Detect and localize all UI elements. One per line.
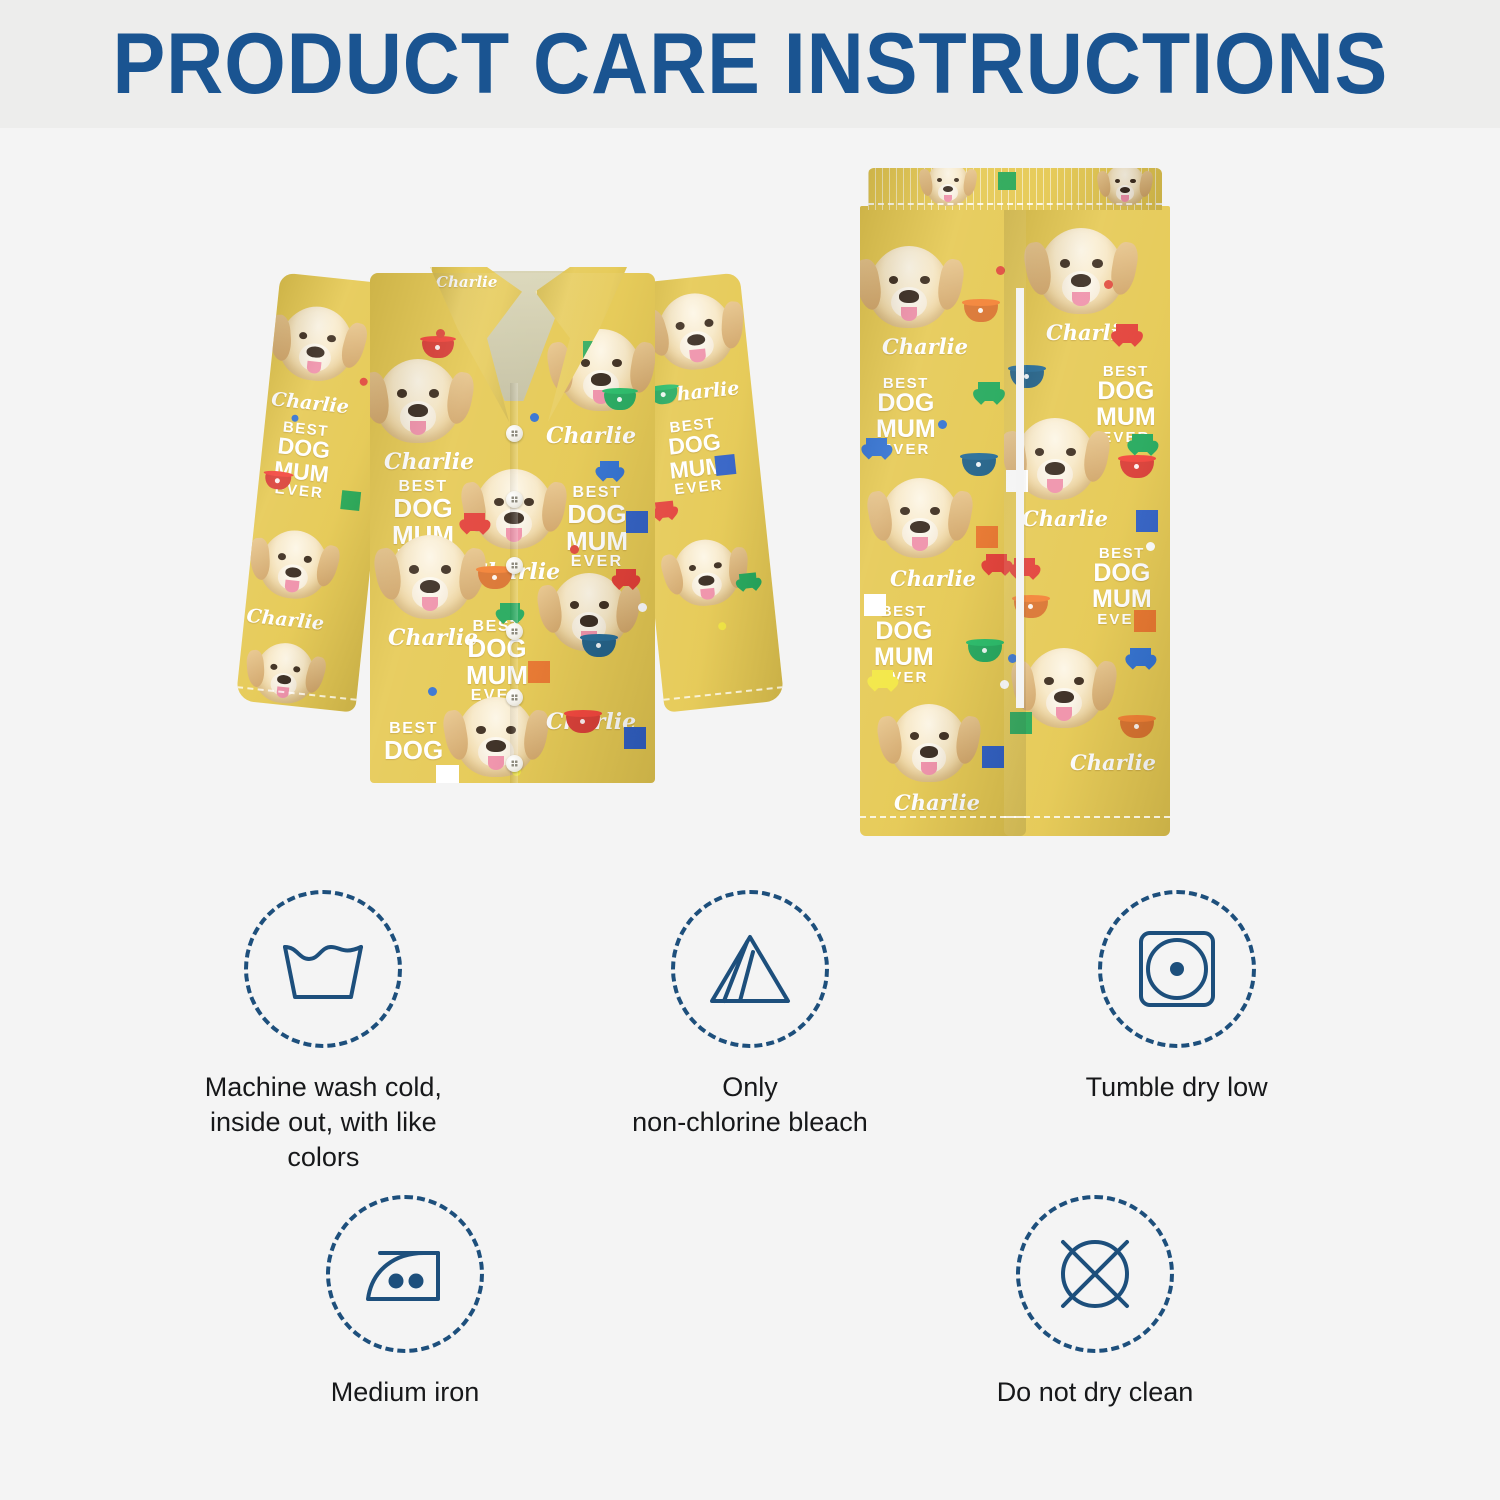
shirt-button[interactable] (506, 491, 523, 508)
care-icon-circle (244, 890, 402, 1048)
pet-name-print: Charlie (882, 334, 968, 359)
waistband-seam (868, 203, 1162, 205)
paw-print-motif (982, 746, 1004, 768)
dot-motif (436, 329, 445, 338)
dog-face-motif (669, 536, 742, 609)
care-instructions-grid: Machine wash cold, inside out, with like… (0, 890, 1500, 1500)
heart-motif (600, 461, 619, 478)
sleeve-cuff (663, 686, 783, 708)
dog-face-motif (880, 478, 960, 558)
heart-motif (464, 513, 485, 531)
heart-motif (1116, 324, 1138, 343)
paw-print-motif (714, 454, 736, 476)
header-band: PRODUCT CARE INSTRUCTIONS (0, 0, 1500, 128)
care-icon-circle (671, 890, 829, 1048)
paw-print-motif (340, 490, 361, 511)
care-item-tumble-dry-low: Tumble dry low (1027, 890, 1327, 1175)
pants-left-leg: Charlie BEST DOG MUM EVER Charlie BEST D… (860, 206, 1026, 836)
heart-motif (986, 554, 1007, 572)
page-title: PRODUCT CARE INSTRUCTIONS (112, 21, 1388, 107)
care-icon-circle (326, 1195, 484, 1353)
dog-bowl-motif (422, 339, 454, 358)
pet-name-print: Charlie (270, 388, 350, 418)
dot-motif (359, 377, 368, 386)
pet-name-print: Charlie (890, 566, 976, 591)
dog-bowl-motif (582, 637, 616, 657)
tumble-dry-icon (1136, 928, 1218, 1010)
dot-motif (718, 622, 727, 631)
dog-face-motif (926, 168, 970, 206)
dog-bowl-motif (1120, 458, 1154, 478)
pet-name-print: Charlie (384, 449, 474, 475)
wash-basin-icon (277, 929, 369, 1009)
heart-motif (616, 569, 636, 586)
paw-print-motif (436, 765, 459, 783)
care-item-do-not-dry-clean: Do not dry clean (945, 1195, 1245, 1410)
paw-print-motif (1010, 712, 1032, 734)
dot-motif (638, 603, 647, 612)
dog-face-motif (276, 303, 357, 384)
dog-face-motif (1024, 648, 1104, 728)
pants-crotch-gap (1016, 288, 1024, 708)
pet-name-print: Charlie (894, 790, 980, 815)
care-label: Do not dry clean (997, 1375, 1194, 1410)
pant-hem (860, 816, 1026, 818)
pet-name-print: Charlie (436, 273, 497, 291)
dog-face-motif (653, 290, 737, 374)
dot-motif (1104, 280, 1113, 289)
paw-print-motif (1136, 510, 1158, 532)
dog-face-motif (868, 246, 950, 328)
pet-name-print: Charlie (388, 625, 478, 651)
dog-face-motif (456, 697, 536, 777)
dog-face-motif (1104, 168, 1146, 206)
heart-motif (978, 382, 1000, 401)
product-image: Charlie BEST DOG MUM EVER Charlie (0, 128, 1500, 888)
dot-motif (1000, 680, 1009, 689)
dot-motif (996, 266, 1005, 275)
pants-right-leg: Charlie BEST DOG MUM EVER Charlie BEST D… (1004, 206, 1170, 836)
pet-name-print: Charlie (245, 605, 325, 635)
dog-bowl-motif (968, 642, 1002, 662)
heart-motif (655, 501, 675, 519)
dot-motif (938, 420, 947, 429)
care-label: Only non-chlorine bleach (632, 1070, 868, 1140)
bleach-triangle-icon (706, 929, 794, 1009)
dot-motif (1146, 542, 1155, 551)
iron-icon (358, 1241, 452, 1307)
heart-motif (872, 670, 893, 688)
dog-bowl-motif (1120, 718, 1154, 738)
pajama-shirt: Charlie BEST DOG MUM EVER Charlie (270, 233, 750, 783)
shirt-button[interactable] (506, 557, 523, 574)
heart-motif (1132, 434, 1153, 452)
dog-face-motif (376, 359, 460, 443)
heart-motif (1130, 648, 1151, 666)
no-dry-clean-icon (1049, 1228, 1141, 1320)
dog-face-motif (388, 535, 472, 619)
shirt-button-placket (510, 383, 518, 783)
dog-face-motif (890, 704, 968, 782)
dog-bowl-motif (478, 569, 512, 589)
pajama-pants: Charlie BEST DOG MUM EVER Charlie BEST D… (830, 168, 1200, 848)
care-icon-circle (1016, 1195, 1174, 1353)
shirt-button[interactable] (506, 689, 523, 706)
pants-waistband (868, 168, 1162, 210)
dot-motif (428, 687, 437, 696)
slogan-badge: BEST DOG (384, 721, 443, 764)
paw-print-motif (864, 594, 886, 616)
pant-hem (1004, 816, 1170, 818)
care-item-machine-wash-cold: Machine wash cold, inside out, with like… (173, 890, 473, 1175)
heart-motif (739, 572, 757, 589)
paw-print-motif (626, 511, 648, 533)
dog-bowl-motif (964, 302, 998, 322)
slogan-badge: BEST DOG MUM EVER (566, 485, 628, 571)
care-icon-circle (1098, 890, 1256, 1048)
care-label: Machine wash cold, inside out, with like… (173, 1070, 473, 1175)
dot-motif (570, 545, 579, 554)
care-item-non-chlorine-bleach: Only non-chlorine bleach (600, 890, 900, 1175)
dog-bowl-motif (604, 391, 636, 410)
dog-face-motif (257, 527, 332, 602)
paw-print-motif (998, 172, 1016, 190)
paw-print-motif (1134, 610, 1156, 632)
dog-face-motif (1038, 228, 1124, 314)
paw-print-motif (528, 661, 550, 683)
dog-bowl-motif (962, 456, 996, 476)
pet-name-print: Charlie (1070, 750, 1156, 775)
care-label: Medium iron (331, 1375, 480, 1410)
care-item-medium-iron: Medium iron (255, 1195, 555, 1410)
care-label: Tumble dry low (1086, 1070, 1268, 1105)
pet-name-print: Charlie (1022, 506, 1108, 531)
dot-motif (530, 413, 539, 422)
shirt-button[interactable] (506, 623, 523, 640)
shirt-button[interactable] (506, 755, 523, 772)
pet-name-print: Charlie (546, 423, 636, 449)
paw-print-motif (976, 526, 998, 548)
heart-motif (866, 438, 887, 456)
shirt-button[interactable] (506, 425, 523, 442)
paw-print-motif (624, 727, 646, 749)
